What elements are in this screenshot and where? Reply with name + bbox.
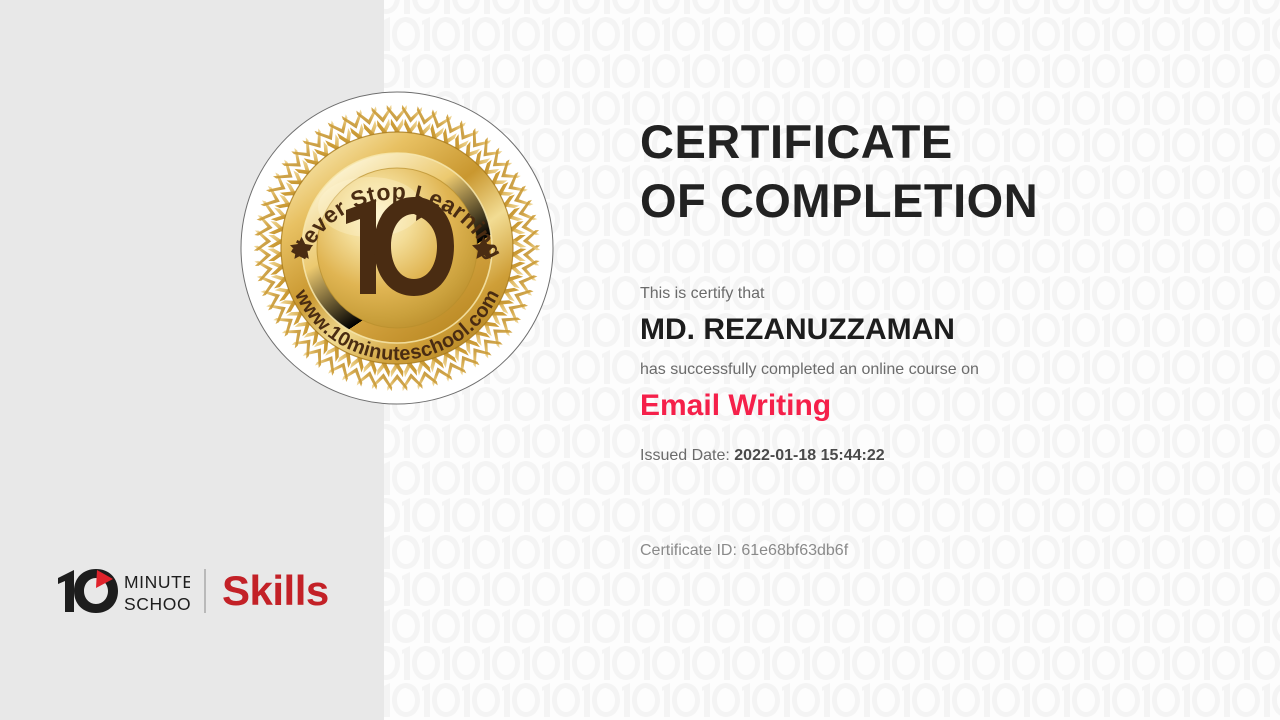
brand-skills-text: Skills xyxy=(222,570,329,612)
certificate-page: Never Stop Learning www.10minuteschool.c… xyxy=(0,0,1280,720)
certificate-content: CERTIFICATE OF COMPLETION This is certif… xyxy=(640,0,1260,720)
title-line-2: OF COMPLETION xyxy=(640,171,1038,230)
brand-line-1: MINUTE xyxy=(124,572,190,592)
brand-logo: MINUTE SCHOOL Skills xyxy=(56,563,329,619)
issued-date-label: Issued Date: xyxy=(640,447,730,464)
medallion-seal: Never Stop Learning www.10minuteschool.c… xyxy=(238,89,556,407)
brand-divider xyxy=(204,569,206,613)
certificate-body: This is certify that MD. REZANUZZAMAN ha… xyxy=(640,282,979,468)
brand-line-2: SCHOOL xyxy=(124,594,190,614)
title-line-1: CERTIFICATE xyxy=(640,112,1038,171)
recipient-name: MD. REZANUZZAMAN xyxy=(640,310,979,350)
issued-date-value: 2022-01-18 15:44:22 xyxy=(734,447,884,464)
lead-text: This is certify that xyxy=(640,282,979,306)
certificate-title: CERTIFICATE OF COMPLETION xyxy=(640,112,1038,230)
ten-minute-school-mark: MINUTE SCHOOL xyxy=(56,566,190,616)
issued-date-row: Issued Date: 2022-01-18 15:44:22 xyxy=(640,444,979,468)
course-name: Email Writing xyxy=(640,386,979,426)
completion-text: has successfully completed an online cou… xyxy=(640,358,979,382)
certificate-id: Certificate ID: 61e68bf63db6f xyxy=(640,540,848,562)
